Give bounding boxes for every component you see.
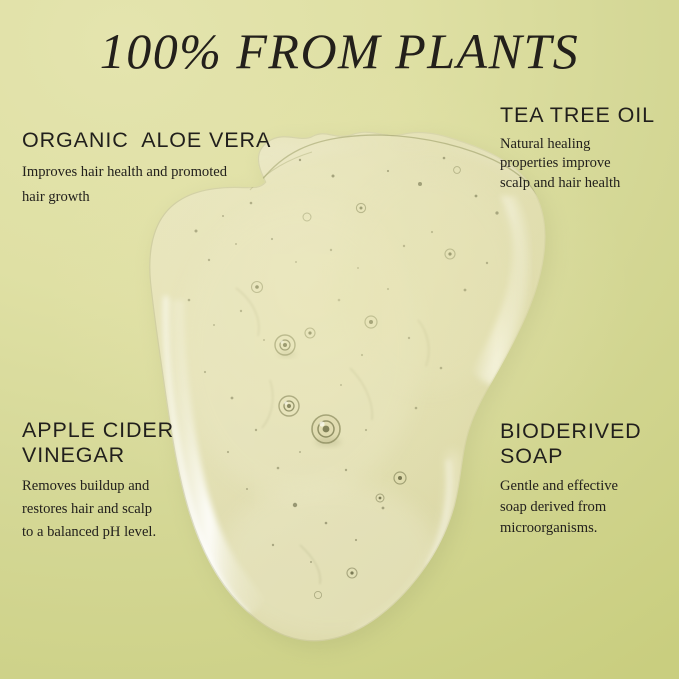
page-title: 100% FROM PLANTS [0,22,679,80]
background-gradient [0,0,679,679]
ingredient-heading-bioderived-soap: BIODERIVED SOAP [500,419,675,469]
ingredient-block-organic-aloe-vera: ORGANIC ALOE VERA Improves hair health a… [22,128,290,210]
ingredient-heading-apple-cider-vinegar: APPLE CIDER VINEGAR [22,418,252,468]
ingredient-heading-tea-tree-oil: TEA TREE OIL [500,103,675,128]
ingredient-body-tea-tree-oil: Natural healing properties improve scalp… [500,135,675,193]
ingredient-block-tea-tree-oil: TEA TREE OIL Natural healing properties … [500,103,675,193]
ingredient-body-apple-cider-vinegar: Removes buildup and restores hair and sc… [22,475,252,543]
ingredient-heading-organic-aloe-vera: ORGANIC ALOE VERA [22,128,290,153]
ingredient-block-apple-cider-vinegar: APPLE CIDER VINEGAR Removes buildup and … [22,418,252,543]
ingredient-body-bioderived-soap: Gentle and effective soap derived from m… [500,476,675,538]
ingredient-body-organic-aloe-vera: Improves hair health and promoted hair g… [22,160,290,210]
ingredient-block-bioderived-soap: BIODERIVED SOAP Gentle and effective soa… [500,419,675,538]
ingredient-infographic-poster: 100% FROM PLANTS ORGANIC ALOE VERA Impro… [0,0,679,679]
